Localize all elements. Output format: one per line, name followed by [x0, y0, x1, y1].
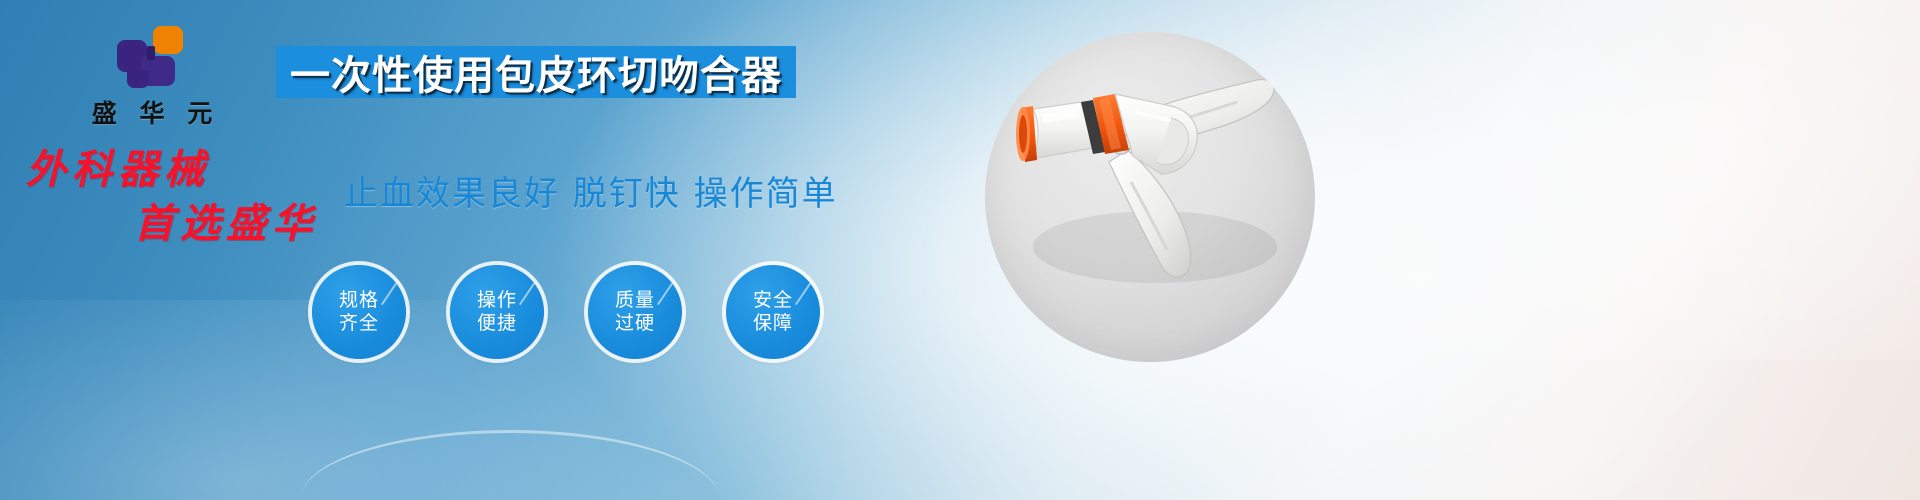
product-subtitle: 止血效果良好 脱钉快 操作简单: [344, 166, 838, 215]
logo-square-purple-notch: [147, 46, 155, 60]
feature-badge-1[interactable]: 规格 齐全: [312, 265, 406, 359]
feature-badge-3[interactable]: 质量 过硬: [588, 265, 682, 359]
brand-logo[interactable]: 盛 华 元: [62, 26, 242, 130]
feature-badge-4-line2: 保障: [753, 312, 793, 335]
feature-badge-4-line1: 安全: [753, 289, 793, 312]
feature-badge-3-line1: 质量: [615, 289, 655, 312]
feature-badge-2-line1: 操作: [477, 289, 517, 312]
feature-badge-2-line2: 便捷: [477, 312, 517, 335]
feature-badge-1-line1: 规格: [339, 289, 379, 312]
logo-mark-icon: [117, 26, 187, 88]
decorative-arc: [300, 430, 720, 500]
brand-name: 盛 华 元: [62, 94, 242, 130]
feature-badge-2[interactable]: 操作 便捷: [450, 265, 544, 359]
product-photo[interactable]: [985, 32, 1315, 362]
product-title: 一次性使用包皮环切吻合器: [290, 43, 782, 101]
feature-badge-1-line2: 齐全: [339, 312, 379, 335]
feature-badge-3-line2: 过硬: [615, 312, 655, 335]
product-banner: 盛 华 元 外科器械 首选盛华 一次性使用包皮环切吻合器 止血效果良好 脱钉快 …: [0, 0, 1920, 500]
logo-square-purple-bottom: [127, 70, 149, 88]
feature-badge-4[interactable]: 安全 保障: [726, 265, 820, 359]
product-illustration: [985, 32, 1315, 362]
feature-badge-list: 规格 齐全 操作 便捷 质量 过硬 安全 保障: [312, 265, 820, 359]
logo-square-orange: [153, 26, 183, 54]
product-title-bar: 一次性使用包皮环切吻合器: [276, 46, 796, 98]
